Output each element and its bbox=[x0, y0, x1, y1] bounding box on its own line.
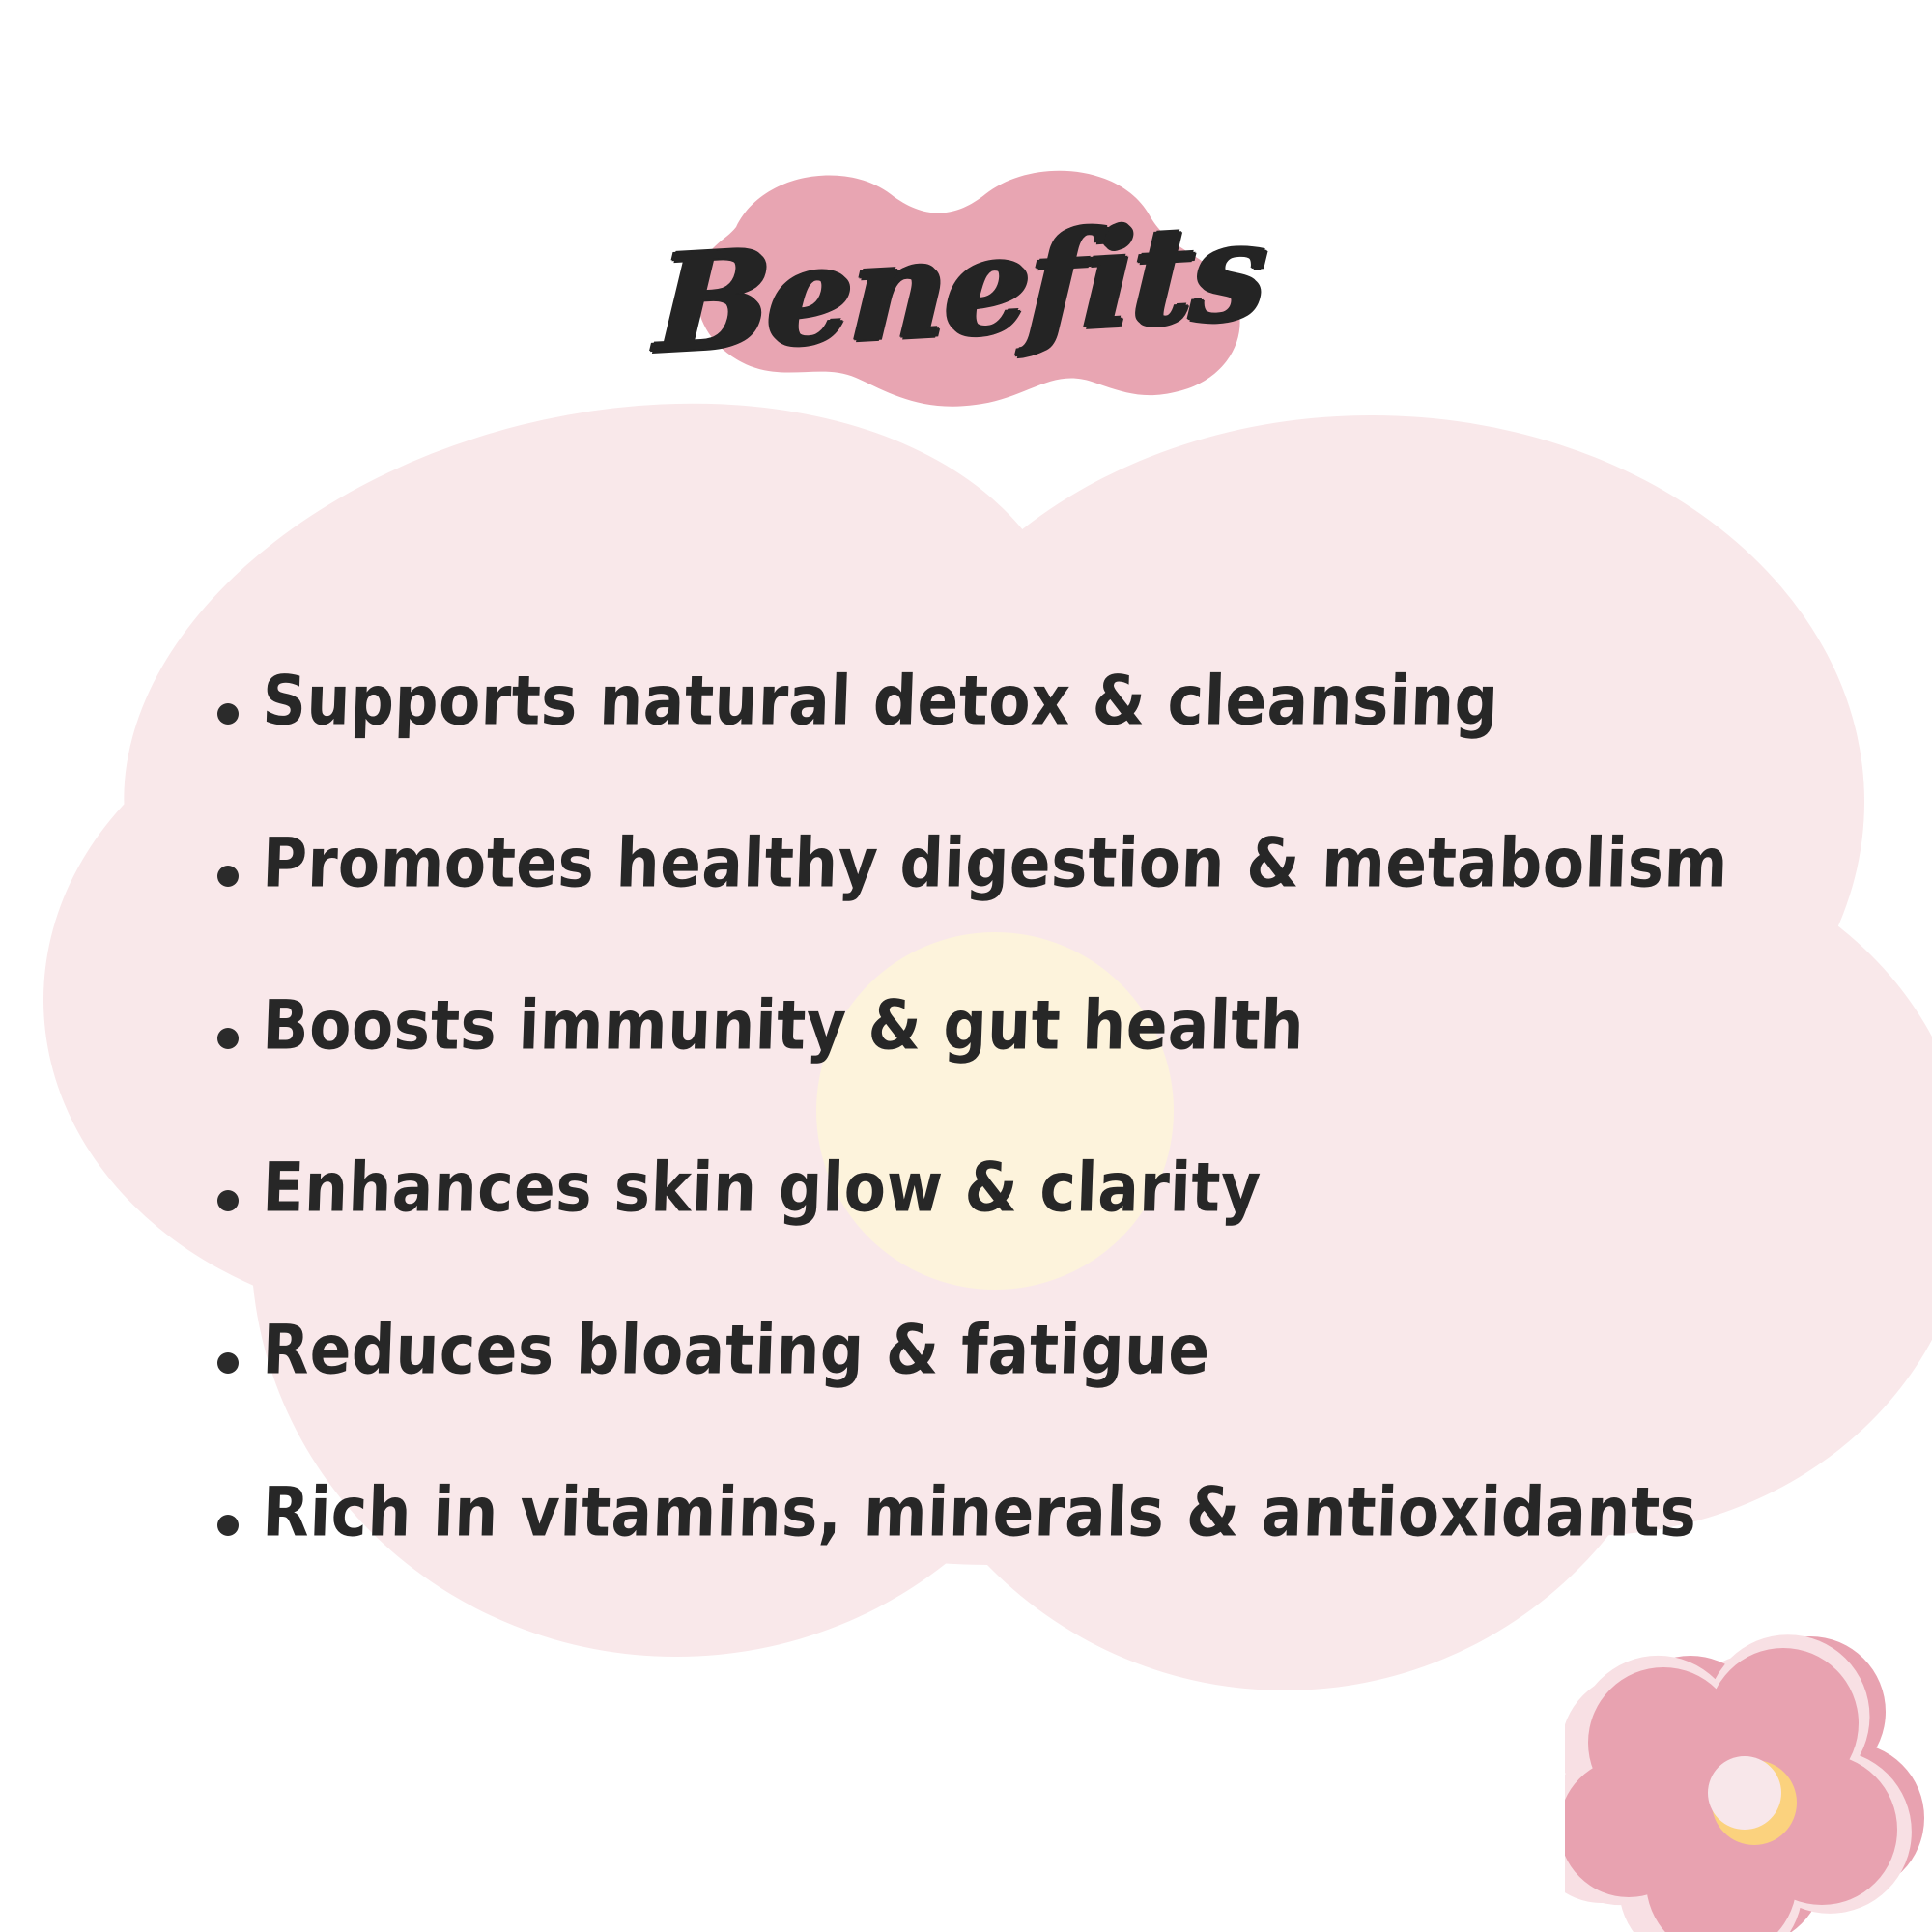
bullet-icon bbox=[217, 1028, 239, 1049]
flower-icon bbox=[1565, 1633, 1932, 1932]
list-item: Reduces bloating & fatigue bbox=[217, 1316, 1802, 1478]
flower-center-inner bbox=[1708, 1756, 1781, 1830]
list-item-label: Reduces bloating & fatigue bbox=[261, 1316, 1210, 1385]
list-item-label: Rich in vitamins, minerals & antioxidant… bbox=[261, 1478, 1697, 1548]
poster-canvas: Benefits Supports natural detox & cleans… bbox=[0, 0, 1932, 1932]
list-item: Supports natural detox & cleansing bbox=[217, 667, 1802, 829]
title-banner: Benefits bbox=[667, 159, 1256, 415]
list-item: Boosts immunity & gut health bbox=[217, 991, 1802, 1153]
list-item-label: Boosts immunity & gut health bbox=[261, 991, 1305, 1061]
bullet-icon bbox=[217, 703, 239, 724]
bullet-icon bbox=[217, 1190, 239, 1211]
bullet-icon bbox=[217, 866, 239, 887]
list-item-label: Supports natural detox & cleansing bbox=[261, 667, 1499, 736]
list-item: Enhances skin glow & clarity bbox=[217, 1153, 1802, 1316]
list-item: Rich in vitamins, minerals & antioxidant… bbox=[217, 1478, 1802, 1640]
bullet-icon bbox=[217, 1352, 239, 1374]
list-item-label: Enhances skin glow & clarity bbox=[261, 1153, 1262, 1223]
list-item-label: Promotes healthy digestion & metabolism bbox=[261, 829, 1729, 898]
bullet-icon bbox=[217, 1515, 239, 1536]
list-item: Promotes healthy digestion & metabolism bbox=[217, 829, 1802, 991]
page-title: Benefits bbox=[661, 142, 1262, 432]
benefits-list: Supports natural detox & cleansing Promo… bbox=[217, 667, 1802, 1640]
